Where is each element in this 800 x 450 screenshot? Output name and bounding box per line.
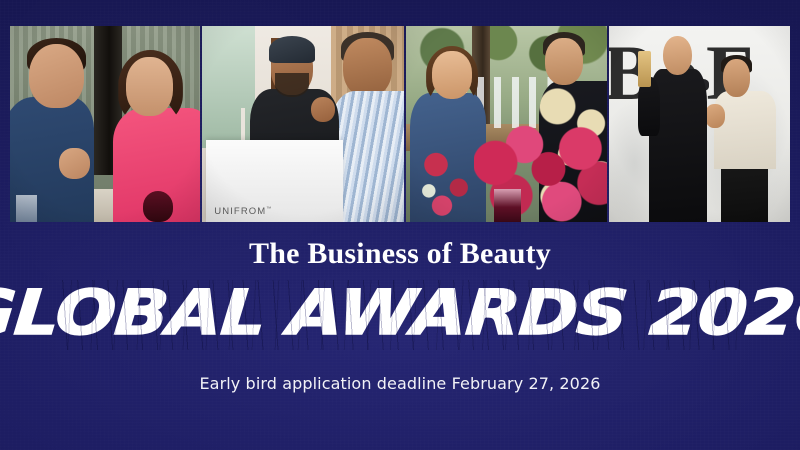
product-counter: UNIFROM™	[206, 140, 343, 222]
person-presenter-head	[723, 59, 750, 96]
scene-illustration	[10, 26, 200, 222]
scene-illustration: BoF	[609, 26, 790, 222]
person-host-hand	[311, 97, 335, 122]
person-host-bandana	[269, 36, 315, 63]
person-winner-head	[663, 36, 692, 75]
scene-illustration	[406, 26, 607, 222]
wine-glass	[143, 191, 173, 222]
person-presenter-hands	[705, 104, 725, 128]
counter-brand-label: UNIFROM™	[214, 206, 272, 217]
wine-glass	[494, 189, 520, 222]
promo-banner: UNIFROM™	[0, 0, 800, 450]
headline-block: The Business of Beauty GLOBAL AWARDS 202…	[0, 238, 800, 393]
awards-headline: GLOBAL AWARDS 2026	[0, 276, 800, 350]
person-guest-head	[343, 38, 391, 97]
person-guest-head	[545, 38, 583, 85]
counter-brand-name: UNIFROM	[214, 206, 266, 217]
photo-panel-unifrom-booth: UNIFROM™	[202, 26, 404, 222]
person-host-beard	[275, 73, 309, 97]
scene-illustration: UNIFROM™	[202, 26, 404, 222]
person-man-hand	[59, 148, 89, 179]
headline-container: GLOBAL AWARDS 2026	[0, 276, 800, 354]
photo-panel-conversation	[10, 26, 200, 222]
person-woman-floral-print	[418, 140, 478, 222]
person-woman-head	[432, 51, 472, 98]
person-presenter-body	[714, 91, 776, 169]
water-glass	[16, 195, 37, 222]
deadline-subtitle: Early bird application deadline February…	[0, 374, 800, 393]
brand-title: The Business of Beauty	[0, 238, 800, 270]
person-man-head	[29, 44, 84, 109]
photo-panel-awards-stage: BoF	[609, 26, 790, 222]
photo-strip: UNIFROM™	[10, 26, 790, 222]
trademark-icon: ™	[266, 206, 272, 212]
photo-panel-garden-reception	[406, 26, 607, 222]
trophy-icon	[638, 51, 651, 86]
person-woman-head	[126, 57, 174, 116]
